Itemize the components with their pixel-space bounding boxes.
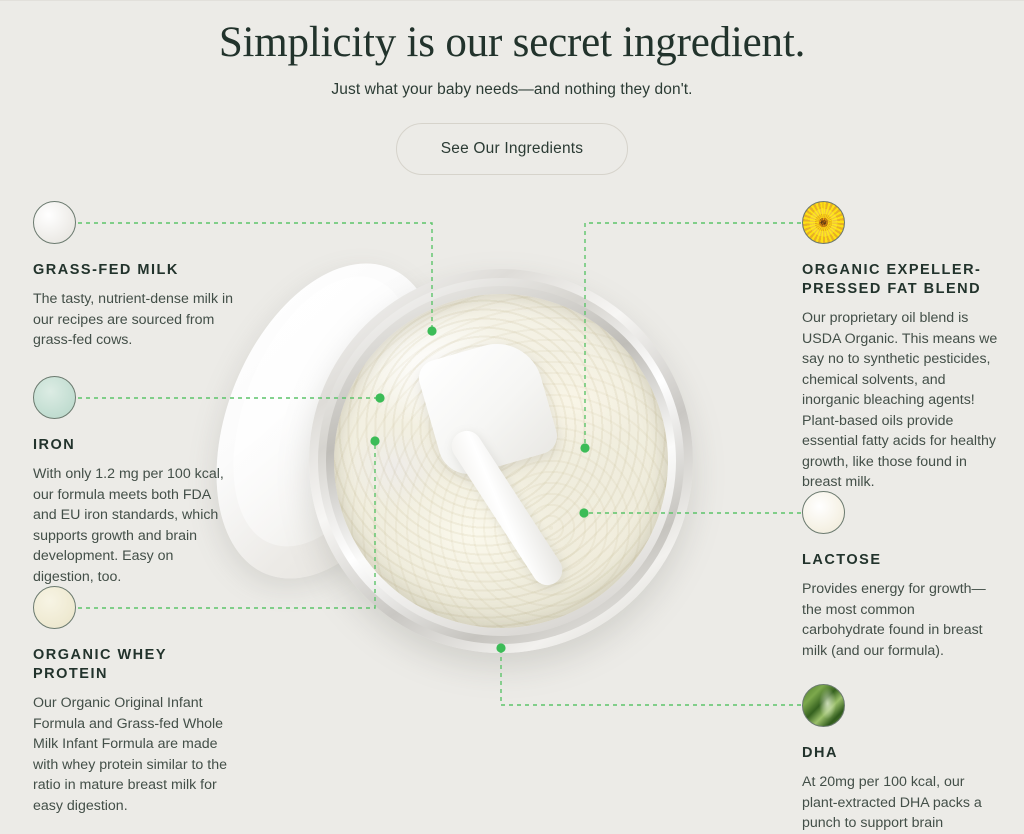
callout-body: Our Organic Original Infant Formula and … [33,693,243,816]
cta-container: See Our Ingredients [0,123,1024,175]
sunflower-swatch-icon [802,201,845,244]
callout-title: ORGANIC EXPELLER-PRESSED FAT BLEND [802,261,998,299]
callout-lactose: LACTOSE Provides energy for growth— the … [802,491,992,661]
callout-title: ORGANIC WHEY PROTEIN [33,646,243,684]
callout-iron: IRON With only 1.2 mg per 100 kcal, our … [33,376,238,587]
whey-swatch-icon [33,586,76,629]
callout-organic-whey-protein: ORGANIC WHEY PROTEIN Our Organic Origina… [33,586,243,816]
callout-title: DHA [802,744,992,763]
callout-body: With only 1.2 mg per 100 kcal, our formu… [33,464,238,587]
callout-body: Our proprietary oil blend is USDA Organi… [802,308,998,493]
formula-can [309,269,693,653]
callout-body: The tasty, nutrient-dense milk in our re… [33,289,245,351]
lactose-swatch-icon [802,491,845,534]
page-header: Simplicity is our secret ingredient. Jus… [0,1,1024,175]
page-subtitle: Just what your baby needs—and nothing th… [0,81,1024,99]
callout-dha: DHA At 20mg per 100 kcal, our plant-extr… [802,684,992,834]
see-our-ingredients-button[interactable]: See Our Ingredients [396,123,629,175]
callout-title: GRASS-FED MILK [33,261,245,280]
callout-organic-expeller-pressed-fat-blend: ORGANIC EXPELLER-PRESSED FAT BLEND Our p… [802,201,998,493]
product-image [200,241,760,671]
callout-body: Provides energy for growth— the most com… [802,579,992,661]
page-title: Simplicity is our secret ingredient. [0,1,1024,71]
milk-swatch-icon [33,201,76,244]
callout-title: IRON [33,436,238,455]
ingredients-callout-page: Simplicity is our secret ingredient. Jus… [0,0,1024,834]
callout-grass-fed-milk: GRASS-FED MILK The tasty, nutrient-dense… [33,201,245,351]
callout-title: LACTOSE [802,551,992,570]
iron-swatch-icon [33,376,76,419]
callout-body: At 20mg per 100 kcal, our plant-extracte… [802,772,992,834]
dha-algae-swatch-icon [802,684,845,727]
